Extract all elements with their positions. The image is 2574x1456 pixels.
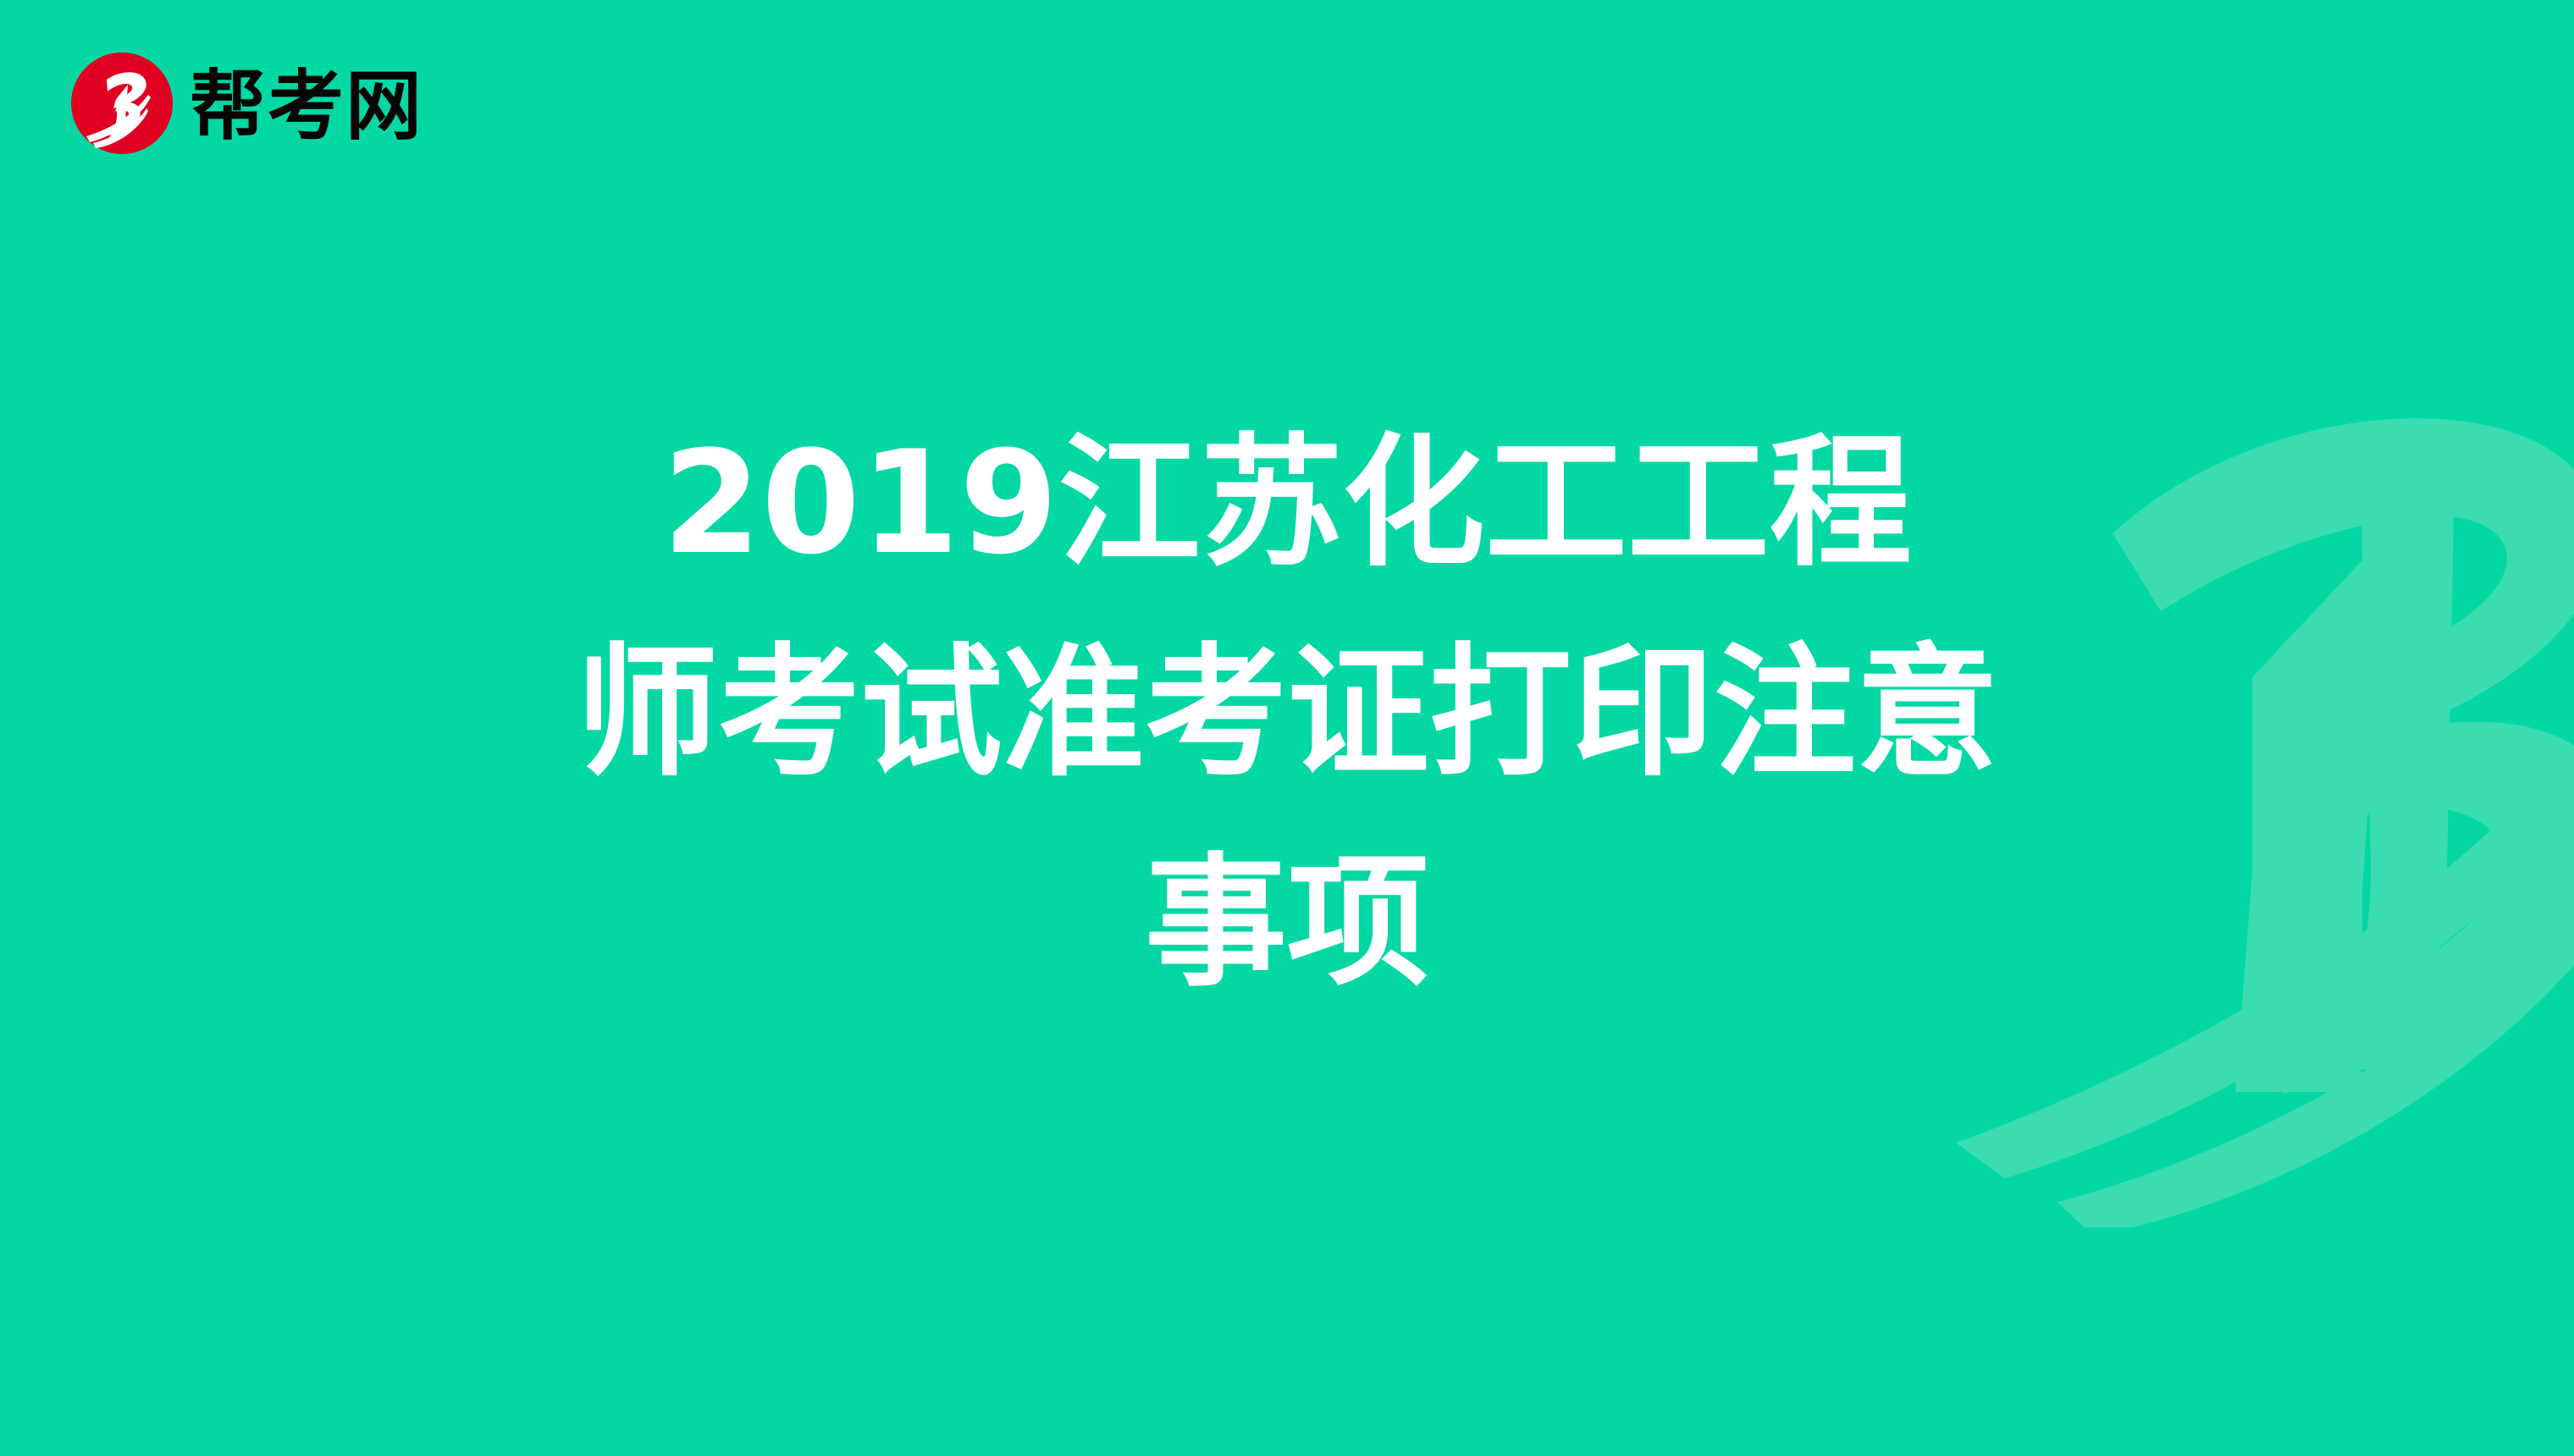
bangkao-b-circle-icon bbox=[69, 51, 174, 156]
poster-canvas: 帮考网 2019江苏化工工程 师考试准考证打印注意 事项 bbox=[0, 0, 2574, 1456]
brand-logo[interactable]: 帮考网 bbox=[69, 51, 423, 156]
page-title-line-3: 事项 bbox=[119, 818, 2455, 1028]
page-title-line-1: 2019江苏化工工程 bbox=[119, 398, 2455, 608]
page-title-line-2: 师考试准考证打印注意 bbox=[119, 608, 2455, 818]
page-title: 2019江苏化工工程 师考试准考证打印注意 事项 bbox=[0, 398, 2574, 1028]
brand-name-label: 帮考网 bbox=[190, 69, 423, 145]
